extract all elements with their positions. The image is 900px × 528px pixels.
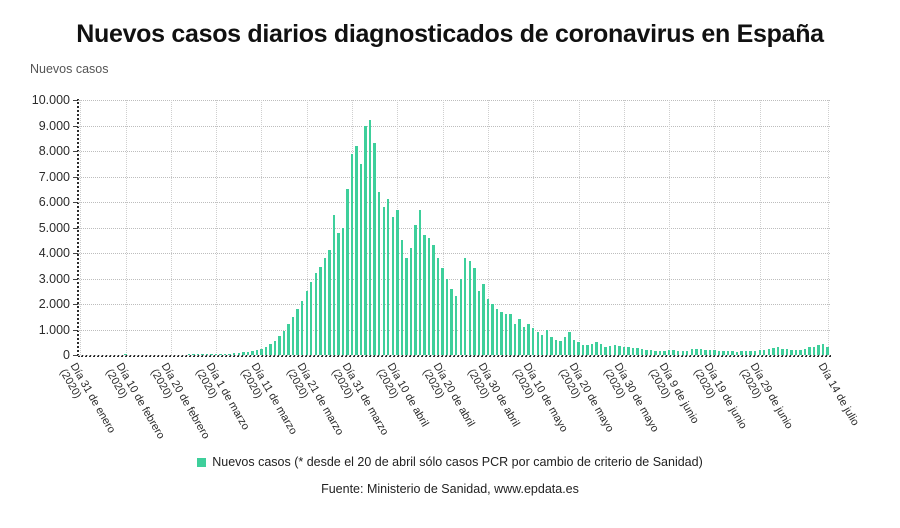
bar (273, 341, 276, 355)
x-tick-label-year: (2020) (555, 367, 604, 440)
bar (468, 261, 471, 355)
x-tick-label-date: Día 31 de enero (68, 361, 118, 435)
bar (513, 324, 516, 355)
bar (246, 352, 249, 355)
bar (658, 351, 661, 355)
bar (581, 345, 584, 355)
plot-area (78, 100, 830, 355)
bar (563, 337, 566, 355)
gridline-vertical (216, 100, 217, 355)
bar (703, 350, 706, 355)
bar (327, 250, 330, 355)
bar (332, 215, 335, 355)
bar (123, 354, 126, 355)
bar (363, 126, 366, 356)
bar (237, 353, 240, 355)
bar (477, 291, 480, 355)
gridline-vertical (579, 100, 580, 355)
gridline-horizontal (78, 177, 830, 178)
x-tick-label: Día 10 de febrero(2020) (102, 361, 166, 447)
gridline-vertical (533, 100, 534, 355)
bar (608, 346, 611, 355)
x-tick-label: Día 31 de enero(2020) (57, 361, 118, 442)
bar (585, 345, 588, 355)
gridline-horizontal (78, 100, 830, 101)
bar (762, 350, 765, 355)
bar (708, 350, 711, 355)
bar (431, 245, 434, 355)
gridline-vertical (714, 100, 715, 355)
x-tick-label-date: Día 14 de julio (815, 361, 861, 428)
bar (196, 354, 199, 355)
bar (418, 210, 421, 355)
bar (277, 336, 280, 355)
bar (576, 342, 579, 355)
gridline-vertical (261, 100, 262, 355)
y-tick-label: 6.000 (6, 195, 70, 209)
chart-source: Fuente: Ministerio de Sanidad, www.epdat… (0, 482, 900, 496)
bar (712, 350, 715, 355)
bar (413, 225, 416, 355)
bar (499, 312, 502, 355)
x-tick-label-year: (2020) (57, 367, 107, 441)
gridline-horizontal (78, 202, 830, 203)
bar (445, 279, 448, 356)
y-tick-label: 4.000 (6, 246, 70, 260)
x-tick-label: Día 10 de abril(2020) (374, 361, 431, 435)
bar (531, 328, 534, 355)
gridline-vertical (171, 100, 172, 355)
bar (699, 349, 702, 355)
bar (463, 258, 466, 355)
x-tick-label-year: (2020) (510, 367, 559, 440)
bar (649, 350, 652, 355)
bar (268, 344, 271, 355)
bar (454, 296, 457, 355)
bar (753, 351, 756, 355)
bar (798, 350, 801, 355)
bar (558, 341, 561, 355)
y-tick-label: 3.000 (6, 272, 70, 286)
y-tick-label: 0 (6, 348, 70, 362)
gridline-horizontal (78, 355, 830, 356)
bar (323, 258, 326, 355)
bar (603, 347, 606, 355)
x-tick-label: Día 1 de marzo(2020) (193, 361, 252, 438)
bar (404, 258, 407, 355)
bar (300, 301, 303, 355)
x-tick-label-date: Día 30 de mayo (611, 361, 660, 434)
bar (436, 258, 439, 355)
bar (744, 351, 747, 355)
bar (758, 350, 761, 355)
bar (255, 350, 258, 355)
bar (286, 324, 289, 355)
bar (386, 199, 389, 355)
bar (486, 299, 489, 355)
bar (250, 351, 253, 355)
gridline-vertical (624, 100, 625, 355)
bar (526, 324, 529, 355)
x-tick-label-year: (2020) (102, 367, 155, 447)
bar (341, 228, 344, 356)
bar (336, 233, 339, 355)
bar (803, 349, 806, 355)
x-tick-label-year: (2020) (601, 367, 650, 440)
bar (735, 352, 738, 355)
y-tick-label: 8.000 (6, 144, 70, 158)
bar (825, 347, 828, 355)
bar (490, 304, 493, 355)
bar (205, 354, 208, 355)
bar (685, 351, 688, 355)
bar (345, 189, 348, 355)
bar (789, 350, 792, 355)
x-tick-label-year: (2020) (465, 367, 511, 435)
bar (209, 354, 212, 355)
bar (780, 349, 783, 355)
gridline-vertical (669, 100, 670, 355)
bar (382, 207, 385, 355)
gridline-horizontal (78, 253, 830, 254)
x-tick-label-year: (2020) (374, 367, 420, 435)
bar (626, 347, 629, 355)
bar (622, 347, 625, 355)
gridline-vertical (760, 100, 761, 355)
x-tick-label-year: (2020) (283, 367, 334, 444)
bar (449, 289, 452, 355)
x-tick-label-date: Día 1 de marzo (203, 361, 251, 432)
bar (191, 354, 194, 355)
x-tick-label-year: (2020) (419, 367, 465, 435)
bar (771, 348, 774, 355)
x-tick-label: Día 10 de mayo(2020) (510, 361, 570, 441)
x-tick-label: Día 19 de junio(2020) (691, 361, 749, 437)
bar (459, 279, 462, 356)
x-tick-label: Día 21 de marzo(2020) (283, 361, 345, 444)
bar (354, 146, 357, 355)
bar (200, 354, 203, 355)
x-tick-label: Día 29 de junio(2020) (736, 361, 794, 437)
y-axis-caption: Nuevos casos (30, 62, 109, 76)
bar (440, 268, 443, 355)
bar (536, 332, 539, 355)
x-tick-label-date: Día 11 de marzo (249, 361, 300, 437)
bar (540, 335, 543, 355)
bar (549, 337, 552, 355)
x-tick-label-date: Día 20 de mayo (566, 361, 615, 434)
bar (481, 284, 484, 355)
x-tick-label: Día 14 de julio (815, 361, 861, 428)
x-tick-label-year: (2020) (736, 367, 784, 437)
bar (314, 273, 317, 355)
bar (187, 354, 190, 355)
bar (631, 348, 634, 355)
x-tick-label-date: Día 10 de abril (385, 361, 431, 429)
x-tick-label: Día 20 de mayo(2020) (555, 361, 615, 441)
legend-label: Nuevos casos (* desde el 20 de abril sól… (212, 455, 703, 469)
x-tick-label-year: (2020) (329, 367, 380, 444)
bar (662, 351, 665, 355)
bar (318, 267, 321, 355)
bar (218, 354, 221, 355)
gridline-vertical (80, 100, 81, 355)
x-tick-label-date: Día 10 de mayo (521, 361, 570, 434)
bar (422, 235, 425, 355)
bar (821, 344, 824, 355)
bar (264, 347, 267, 355)
x-tick-label-date: Día 21 de marzo (294, 361, 345, 438)
legend-swatch-icon (197, 458, 206, 467)
x-tick-label-date: Día 31 de marzo (339, 361, 390, 438)
x-tick-label-date: Día 9 de junio (657, 361, 702, 426)
x-tick-label-year: (2020) (193, 367, 241, 438)
x-tick-label: Día 9 de junio(2020) (646, 361, 701, 432)
x-tick-label: Día 20 de febrero(2020) (148, 361, 212, 447)
bar (291, 317, 294, 355)
bar (214, 354, 217, 355)
gridline-vertical (126, 100, 127, 355)
bar (721, 351, 724, 355)
bar (640, 349, 643, 355)
bar (599, 344, 602, 355)
bar (635, 348, 638, 355)
bar (690, 349, 693, 355)
bar (223, 354, 226, 355)
bar (554, 340, 557, 355)
bar (694, 349, 697, 355)
bar (617, 346, 620, 355)
bar (545, 330, 548, 356)
bar (350, 154, 353, 355)
chart-container: Nuevos casos diarios diagnosticados de c… (0, 0, 900, 528)
x-tick-label-year: (2020) (238, 367, 289, 443)
bar (309, 282, 312, 355)
bar (305, 291, 308, 355)
bar (785, 349, 788, 355)
x-tick-label: Día 30 de abril(2020) (465, 361, 522, 435)
bar (681, 351, 684, 355)
bar (282, 331, 285, 355)
bar (495, 309, 498, 355)
bar (776, 347, 779, 355)
x-tick-label: Día 20 de abril(2020) (419, 361, 476, 435)
bar (400, 240, 403, 355)
bar (504, 314, 507, 355)
bar (726, 351, 729, 355)
y-tick-label: 2.000 (6, 297, 70, 311)
bar (717, 351, 720, 355)
bar (368, 120, 371, 355)
bar (259, 349, 262, 355)
x-tick-label: Día 11 de marzo(2020) (238, 361, 300, 443)
bar (227, 354, 230, 355)
bar (730, 351, 733, 355)
y-tick-label: 1.000 (6, 323, 70, 337)
bar (572, 340, 575, 355)
gridline-vertical (828, 100, 829, 355)
chart-legend: Nuevos casos (* desde el 20 de abril sól… (0, 455, 900, 469)
bar (667, 350, 670, 355)
bar (427, 238, 430, 355)
bar (567, 332, 570, 355)
bar (359, 164, 362, 355)
y-tick-label: 5.000 (6, 221, 70, 235)
bar (653, 351, 656, 355)
bar (644, 350, 647, 355)
x-tick-label-date: Día 20 de febrero (158, 361, 211, 441)
bar (517, 319, 520, 355)
bar (241, 352, 244, 355)
bar (472, 268, 475, 355)
bar (590, 344, 593, 355)
bar (794, 350, 797, 355)
bar (816, 345, 819, 355)
bar (232, 353, 235, 355)
bar (391, 217, 394, 355)
x-tick-label-date: Día 20 de abril (430, 361, 476, 429)
bar (377, 192, 380, 355)
gridline-horizontal (78, 151, 830, 152)
bar (613, 345, 616, 355)
y-tick-label: 7.000 (6, 170, 70, 184)
chart-title: Nuevos casos diarios diagnosticados de c… (0, 20, 900, 49)
bar (594, 342, 597, 355)
bar (409, 248, 412, 355)
bar (372, 143, 375, 355)
x-tick-label: Día 31 de marzo(2020) (329, 361, 391, 444)
gridline-horizontal (78, 126, 830, 127)
x-tick-label-year: (2020) (148, 367, 201, 447)
gridline-horizontal (78, 279, 830, 280)
bar (522, 327, 525, 355)
bar (807, 347, 810, 355)
bar (767, 349, 770, 355)
x-tick-label-date: Día 19 de junio (702, 361, 750, 431)
bar (295, 309, 298, 355)
x-tick-label-year: (2020) (691, 367, 739, 437)
bar (812, 347, 815, 355)
x-tick-label-date: Día 10 de febrero (113, 361, 166, 441)
x-tick-label-date: Día 29 de junio (747, 361, 795, 431)
x-tick-label: Día 30 de mayo(2020) (601, 361, 661, 441)
bar (676, 351, 679, 355)
bar (395, 210, 398, 355)
bar (508, 314, 511, 355)
bar (671, 350, 674, 355)
gridline-horizontal (78, 228, 830, 229)
x-tick-label-date: Día 30 de abril (475, 361, 521, 429)
bar (739, 351, 742, 355)
x-tick-label-year: (2020) (646, 367, 691, 432)
bar (748, 351, 751, 355)
y-tick-label: 10.000 (6, 93, 70, 107)
y-tick-label: 9.000 (6, 119, 70, 133)
